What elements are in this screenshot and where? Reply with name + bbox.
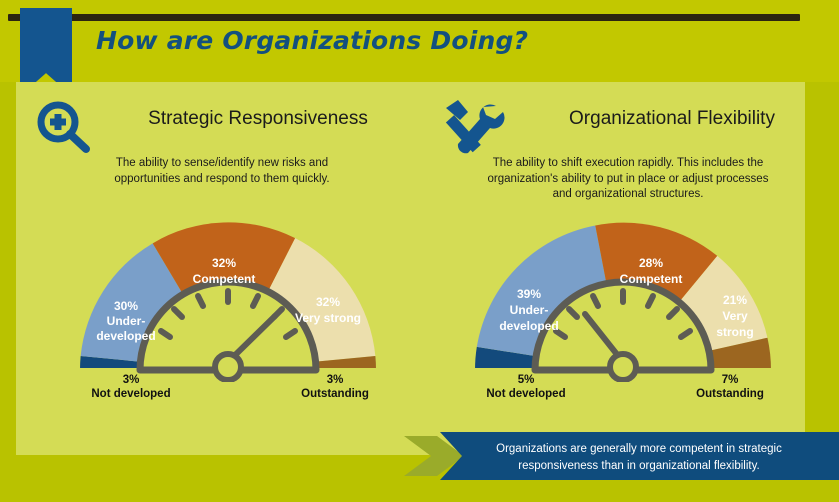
summary-banner: Organizations are generally more compete… (404, 432, 839, 480)
gauge-chart: 39% Under- developed 28% Competent 21% V… (443, 222, 803, 382)
label-not-developed: 3% Not developed (66, 374, 196, 402)
label-not-developed: 5% Not developed (461, 374, 591, 402)
section-description: The ability to sense/identify new risks … (96, 156, 348, 187)
section-description: The ability to shift execution rapidly. … (487, 156, 769, 203)
label-very-strong-value: 32% (316, 295, 340, 309)
dial-hub (610, 354, 636, 380)
label-under-developed-l1: Under- (107, 314, 146, 328)
hanger-rod-icon (8, 14, 800, 21)
label-under-developed-value: 30% (114, 299, 138, 313)
infographic-root: How are Organizations Doing? Strategic R… (0, 0, 839, 502)
label-competent-label: Competent (193, 272, 256, 286)
outstanding-label: Outstanding (301, 388, 369, 400)
label-under-developed-l2: developed (499, 319, 558, 333)
outstanding-value: 7% (722, 374, 739, 386)
label-very-strong-l2: strong (716, 325, 753, 339)
label-under-developed-l1: Under- (510, 303, 549, 317)
not-developed-value: 5% (518, 374, 535, 386)
gauge-strategic-responsiveness: 30% Under- developed 32% Competent 32% V… (48, 222, 408, 412)
summary-line-2: responsiveness than in organizational fl… (518, 460, 759, 472)
not-developed-value: 3% (123, 374, 140, 386)
gauge-organizational-flexibility: 39% Under- developed 28% Competent 21% V… (443, 222, 803, 412)
not-developed-label: Not developed (486, 388, 565, 400)
magnifier-plus-icon (32, 98, 100, 154)
label-very-strong-value: 21% (723, 293, 747, 307)
section-title: Strategic Responsiveness (108, 108, 408, 130)
label-competent-label: Competent (620, 272, 683, 286)
label-under-developed-l2: developed (96, 329, 155, 343)
hammer-wrench-icon (438, 98, 506, 154)
summary-banner-text: Organizations are generally more compete… (464, 441, 814, 474)
summary-line-1: Organizations are generally more compete… (496, 443, 782, 455)
section-strategic-responsiveness: Strategic Responsiveness The ability to … (22, 96, 422, 187)
label-outstanding: 3% Outstanding (270, 374, 400, 402)
label-under-developed-value: 39% (517, 287, 541, 301)
section-header: Organizational Flexibility (428, 96, 828, 152)
not-developed-label: Not developed (91, 388, 170, 400)
dial-hub (215, 354, 241, 380)
page-title: How are Organizations Doing? (96, 26, 528, 55)
gauge-chart: 30% Under- developed 32% Competent 32% V… (48, 222, 408, 382)
section-title: Organizational Flexibility (524, 108, 820, 130)
label-outstanding: 7% Outstanding (665, 374, 795, 402)
section-organizational-flexibility: Organizational Flexibility The ability t… (428, 96, 828, 203)
label-competent-value: 28% (639, 256, 663, 270)
outstanding-value: 3% (327, 374, 344, 386)
label-very-strong-l1: Very strong (295, 311, 361, 325)
outstanding-label: Outstanding (696, 388, 764, 400)
label-competent-value: 32% (212, 256, 236, 270)
label-very-strong-l1: Very (722, 309, 748, 323)
section-header: Strategic Responsiveness (22, 96, 422, 152)
